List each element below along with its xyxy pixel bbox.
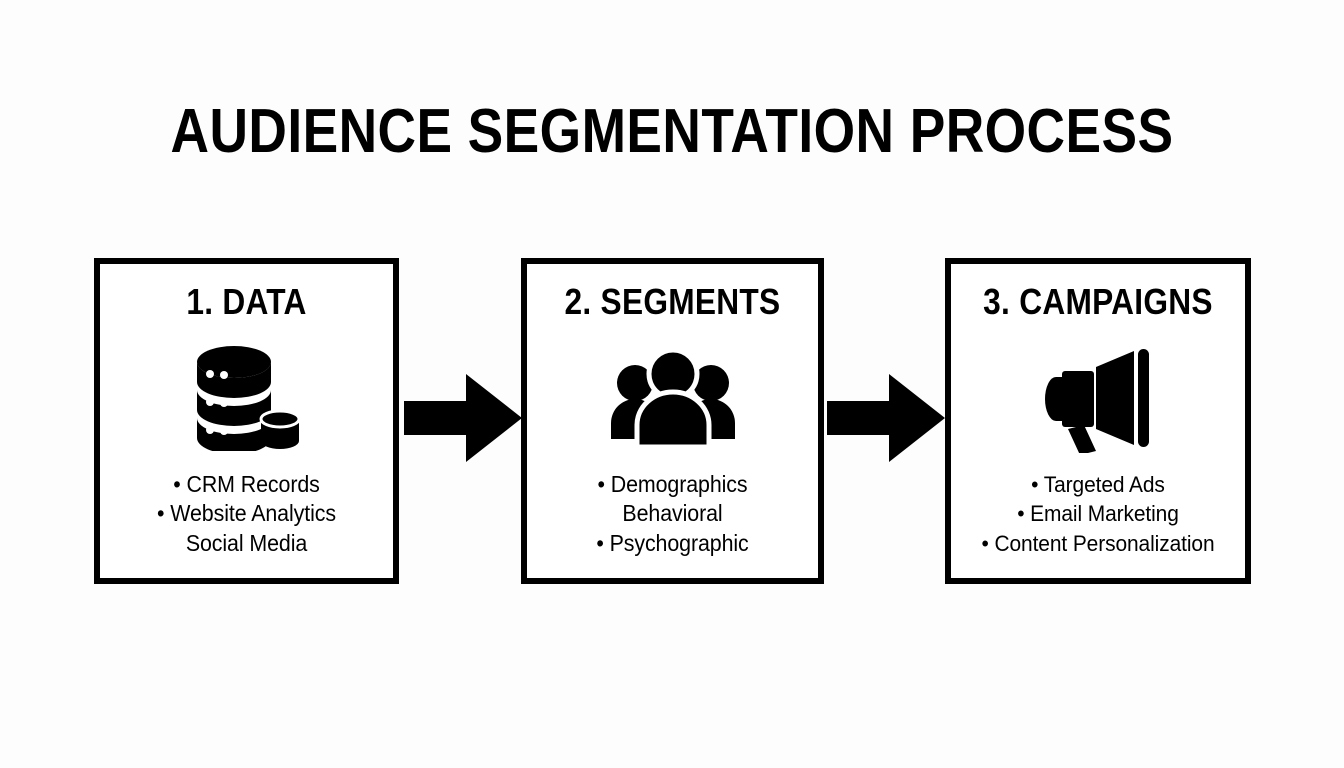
list-item: • Psychographic: [537, 529, 808, 559]
step-list-segments: • Demographics Behavioral • Psychographi…: [527, 470, 818, 559]
slide-canvas: AUDIENCE SEGMENTATION PROCESS 1. DATA: [0, 0, 1344, 768]
list-item: Social Media: [110, 529, 382, 559]
list-item: • Email Marketing: [961, 499, 1234, 529]
list-item: • Content Personalization: [961, 529, 1234, 559]
list-item: • Demographics: [537, 470, 808, 500]
step-card-data[interactable]: 1. DATA: [94, 258, 399, 584]
step-heading-segments: 2. SEGMENTS: [544, 282, 800, 322]
list-item: Behavioral: [537, 499, 808, 529]
list-item: • Website Analytics: [110, 499, 382, 529]
step-card-segments[interactable]: 2. SEGMENTS • Demographics Behavioral: [521, 258, 824, 584]
step-list-data: • CRM Records • Website Analytics Social…: [100, 470, 393, 559]
list-item: • CRM Records: [110, 470, 382, 500]
megaphone-icon: [951, 336, 1245, 458]
database-icon: [100, 336, 393, 458]
step-heading-campaigns: 3. CAMPAIGNS: [969, 282, 1228, 322]
list-item: • Targeted Ads: [961, 470, 1234, 500]
step-card-campaigns[interactable]: 3. CAMPAIGNS • Targeted Ads •: [945, 258, 1251, 584]
flow-arrow-right-icon: [827, 374, 945, 462]
flow-arrow-right-icon: [404, 374, 522, 462]
step-heading-data: 1. DATA: [118, 282, 376, 322]
page-title: AUDIENCE SEGMENTATION PROCESS: [94, 96, 1250, 168]
step-list-campaigns: • Targeted Ads • Email Marketing • Conte…: [951, 470, 1245, 559]
people-group-icon: [527, 336, 818, 458]
